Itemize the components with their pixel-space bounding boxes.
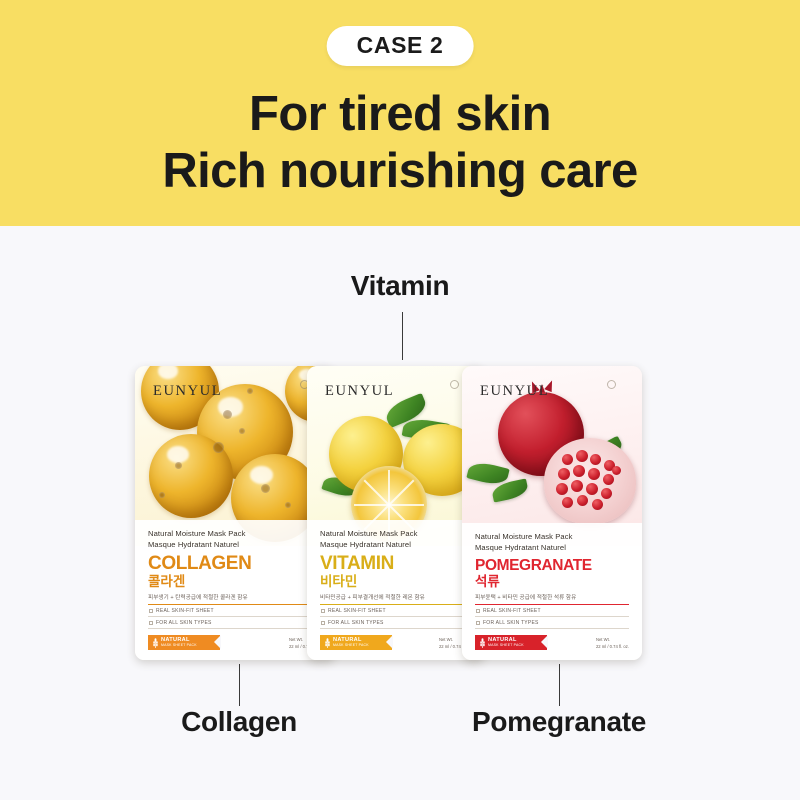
checkbox-icon [476, 609, 480, 613]
product-label-vitamin: Natural Moisture Mask Pack Masque Hydrat… [307, 520, 485, 660]
product-description-collagen: 피부생기 + 탄력공급에 적절한 콜라겐 함유 [148, 593, 322, 601]
product-collagen[interactable]: EUNYUL Natural Moisture Mask Pack Masque… [135, 366, 335, 660]
product-description-pomegranate: 피부윤택 + 비타민 공급에 적절한 석류 함유 [475, 593, 629, 601]
product-vitamin[interactable]: EUNYUL Natural Moisture Mask Pack Masque… [307, 366, 485, 660]
checkbox-icon [321, 621, 325, 625]
product-label-collagen: Natural Moisture Mask Pack Masque Hydrat… [135, 520, 335, 660]
ribbon-subtitle-vitamin: MASK SHEET PACK [333, 644, 369, 648]
product-line-fr-vitamin: Masque Hydratant Naturel [320, 540, 472, 551]
product-line-en-pomegranate: Natural Moisture Mask Pack [475, 532, 629, 543]
product-name-kr-collagen: 콜라겐 [148, 574, 322, 590]
product-pomegranate[interactable]: EUNYUL Natural Moisture Mask Pack Masque… [462, 366, 642, 660]
product-bullet-collagen-1: FOR ALL SKIN TYPES [148, 617, 322, 629]
product-line-en-vitamin: Natural Moisture Mask Pack [320, 529, 472, 540]
hang-hole-icon [607, 380, 616, 389]
product-bullet-vitamin-1: FOR ALL SKIN TYPES [320, 617, 472, 629]
product-name-collagen: COLLAGEN [148, 554, 322, 573]
wheat-icon [153, 638, 158, 648]
natural-ribbon-collagen: NATURAL MASK SHEET PACK [148, 635, 220, 650]
natural-ribbon-pomegranate: NATURAL MASK SHEET PACK [475, 635, 547, 650]
checkbox-icon [149, 609, 153, 613]
product-line-fr-pomegranate: Masque Hydratant Naturel [475, 543, 629, 554]
product-bullet-pomegranate-0: REAL SKIN-FIT SHEET [475, 605, 629, 617]
net-weight-pomegranate: Net Wt. 22 ml / 0.74 fl. oz. [596, 637, 629, 650]
brand-logo-vitamin: EUNYUL [325, 383, 394, 400]
checkbox-icon [149, 621, 153, 625]
product-label-pomegranate: Natural Moisture Mask Pack Masque Hydrat… [462, 523, 642, 660]
product-name-kr-vitamin: 비타민 [320, 574, 472, 590]
wheat-icon [325, 638, 330, 648]
product-description-vitamin: 비타민공급 + 피부결개선에 적절한 레몬 함유 [320, 593, 472, 601]
product-name-pomegranate: POMEGRANATE [475, 558, 629, 574]
product-name-vitamin: VITAMIN [320, 554, 472, 573]
checkbox-icon [321, 609, 325, 613]
hang-hole-icon [450, 380, 459, 389]
product-bullet-vitamin-0: REAL SKIN-FIT SHEET [320, 605, 472, 617]
product-bullet-collagen-0: REAL SKIN-FIT SHEET [148, 605, 322, 617]
wheat-icon [480, 638, 485, 648]
brand-logo-pomegranate: EUNYUL [480, 383, 549, 400]
checkbox-icon [476, 621, 480, 625]
product-line-en-collagen: Natural Moisture Mask Pack [148, 529, 322, 540]
product-line-fr-collagen: Masque Hydratant Naturel [148, 540, 322, 551]
brand-logo-collagen: EUNYUL [153, 383, 222, 400]
product-bullet-pomegranate-1: FOR ALL SKIN TYPES [475, 617, 629, 629]
ribbon-subtitle-pomegranate: MASK SHEET PACK [488, 644, 524, 648]
ribbon-subtitle-collagen: MASK SHEET PACK [161, 644, 197, 648]
product-name-kr-pomegranate: 석류 [475, 574, 629, 590]
natural-ribbon-vitamin: NATURAL MASK SHEET PACK [320, 635, 392, 650]
product-group: EUNYUL Natural Moisture Mask Pack Masque… [0, 0, 800, 800]
